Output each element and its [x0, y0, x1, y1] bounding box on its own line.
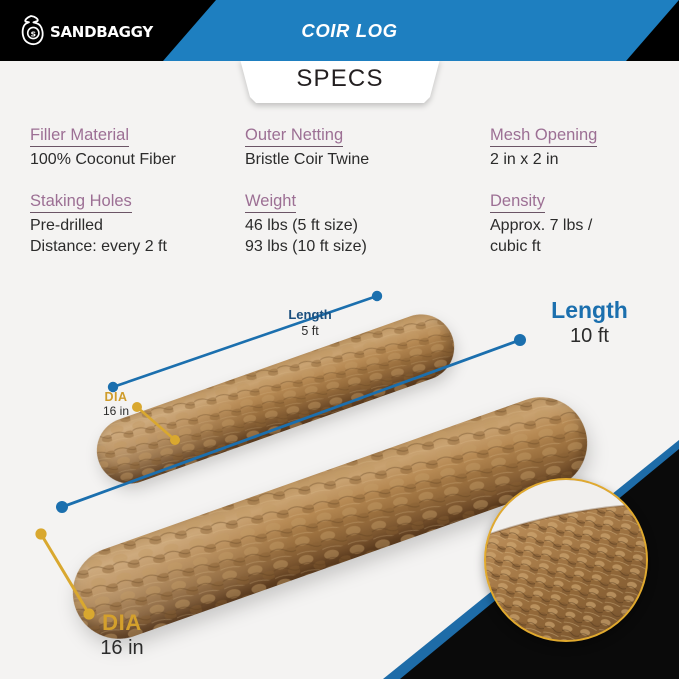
spec-value: Approx. 7 lbs / cubic ft — [490, 215, 679, 257]
spec-label: Mesh Opening — [490, 126, 597, 147]
dia-large-dot-start — [35, 528, 46, 539]
spec-value: 2 in x 2 in — [490, 149, 679, 170]
callout-title: DIA — [82, 390, 150, 404]
spec-label: Outer Netting — [245, 126, 343, 147]
callout-dia-small: DIA 16 in — [82, 390, 150, 418]
header-bar: s sandbaggy COIR LOG — [0, 0, 679, 61]
spec-row: Staking Holes Pre-drilled Distance: ever… — [0, 192, 679, 257]
spec-grid: Filler Material 100% Coconut Fiber Outer… — [0, 126, 679, 257]
specs-tab-label: SPECS — [240, 59, 440, 103]
spec-item-outer-netting: Outer Netting Bristle Coir Twine — [245, 126, 490, 170]
callout-value: 10 ft — [527, 325, 652, 347]
callout-value: 16 in — [70, 637, 174, 659]
callout-dia-large: DIA 16 in — [70, 611, 174, 659]
sandbag-icon: s — [20, 14, 46, 46]
length-5ft-dot-end — [372, 291, 382, 301]
callout-value: 5 ft — [255, 324, 365, 338]
spec-item-mesh-opening: Mesh Opening 2 in x 2 in — [490, 126, 679, 170]
spec-value: 100% Coconut Fiber — [30, 149, 245, 170]
spec-row: Filler Material 100% Coconut Fiber Outer… — [0, 126, 679, 170]
length-10ft-dot-end — [514, 334, 526, 346]
callout-title: DIA — [70, 611, 174, 636]
callout-title: Length — [527, 298, 652, 324]
spec-item-density: Density Approx. 7 lbs / cubic ft — [490, 192, 679, 257]
spec-label: Density — [490, 192, 545, 213]
product-photo-area: Length 5 ft Length 10 ft DIA 16 in DIA 1… — [0, 272, 679, 679]
closeup-texture — [484, 478, 648, 642]
spec-value: Pre-drilled Distance: every 2 ft — [30, 215, 245, 257]
brand-name: sandbaggy — [50, 18, 153, 42]
spec-label: Staking Holes — [30, 192, 132, 213]
length-10ft-dot-start — [56, 501, 68, 513]
spec-item-staking-holes: Staking Holes Pre-drilled Distance: ever… — [0, 192, 245, 257]
dia-small-dot-end — [170, 435, 180, 445]
spec-value: Bristle Coir Twine — [245, 149, 490, 170]
callout-value: 16 in — [82, 405, 150, 418]
dia-large-line — [41, 534, 89, 614]
coir-texture-closeup — [484, 478, 648, 642]
svg-text:s: s — [31, 30, 36, 40]
brand-logo: s sandbaggy — [20, 14, 153, 46]
callout-length-10ft: Length 10 ft — [527, 298, 652, 347]
spec-label: Weight — [245, 192, 296, 213]
callout-title: Length — [255, 308, 365, 323]
length-10ft-line — [62, 340, 520, 507]
spec-item-weight: Weight 46 lbs (5 ft size) 93 lbs (10 ft … — [245, 192, 490, 257]
product-spec-card: s sandbaggy COIR LOG SPECS Filler Materi… — [0, 0, 679, 679]
spec-value: 46 lbs (5 ft size) 93 lbs (10 ft size) — [245, 215, 490, 257]
spec-item-filler-material: Filler Material 100% Coconut Fiber — [0, 126, 245, 170]
specs-tab[interactable]: SPECS — [240, 59, 440, 103]
callout-length-5ft: Length 5 ft — [255, 308, 365, 338]
spec-label: Filler Material — [30, 126, 129, 147]
